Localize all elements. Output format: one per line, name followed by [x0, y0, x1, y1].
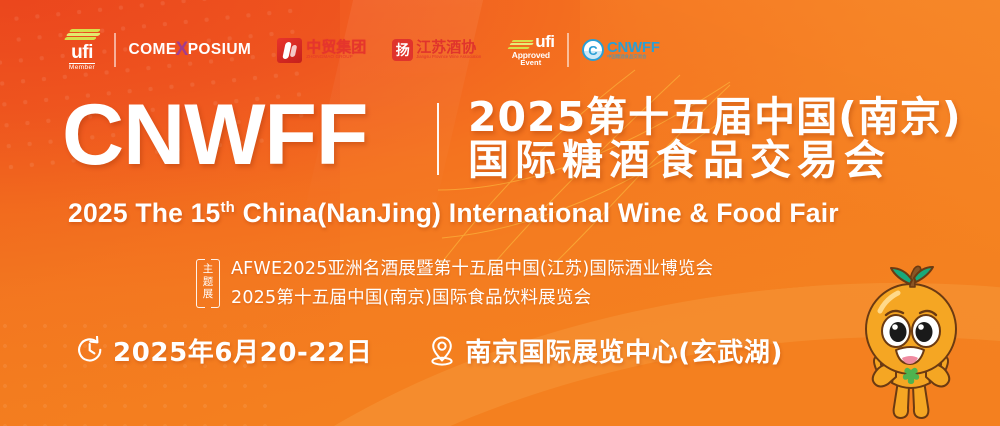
- logo-strip: ufi Member COMEXPOSIUM 中贸集团 ZHONGMAO GRO…: [50, 25, 673, 75]
- zhongmao-mark-icon: [277, 38, 302, 63]
- chinese-title: 2025第十五届中国(南京) 国际糖酒食品交易会: [468, 96, 962, 183]
- theme-exhibitions: 主 题 展 AFWE2025亚洲名酒展暨第十五届中国(江苏)国际酒业博览会 20…: [196, 255, 713, 309]
- theme-badge-char-3: 展: [203, 288, 214, 301]
- jiangsu-en-name: Jiangsu Province Wine Association: [416, 55, 481, 59]
- ufi-event-label: Event: [520, 59, 541, 67]
- chinese-title-line-2: 国际糖酒食品交易会: [468, 139, 962, 182]
- title-divider: [437, 103, 439, 175]
- cnwff-logo-subtitle: 中国糖酒食品交易会: [607, 55, 660, 59]
- event-venue: 南京国际展览中心(玄武湖): [428, 332, 783, 369]
- event-venue-text: 南京国际展览中心(玄武湖): [465, 332, 783, 369]
- clock-icon: [76, 336, 104, 366]
- event-date: 2025年6月20-22日: [76, 332, 372, 369]
- logo-zhongmao-group: 中贸集团 ZHONGMAO GROUP: [264, 25, 379, 75]
- jiangsu-seal-icon: 扬: [392, 39, 413, 61]
- english-title-ordinal: th: [220, 199, 235, 216]
- logo-jiangsu-wine-association: 扬 江苏酒协 Jiangsu Province Wine Association: [379, 25, 494, 75]
- logo-cnwff: CNWFF 中国糖酒食品交易会: [569, 25, 673, 75]
- logo-ufi-approved-event: ufi Approved Event: [494, 25, 567, 75]
- ufi-wing-icon: [63, 29, 101, 42]
- zhongmao-cn-name: 中贸集团: [306, 40, 366, 55]
- brand-acronym: CNWFF: [62, 92, 367, 178]
- logo-comexposium: COMEXPOSIUM: [116, 25, 265, 75]
- event-meta: 2025年6月20-22日 南京国际展览中心(玄武湖): [76, 332, 783, 369]
- theme-item: AFWE2025亚洲名酒展暨第十五届中国(江苏)国际酒业博览会: [231, 255, 713, 280]
- ufi-member-label: Member: [69, 63, 95, 72]
- ufi-approved-wordmark: ufi: [535, 33, 554, 51]
- chinese-title-line-1: 2025第十五届中国(南京): [468, 96, 962, 139]
- theme-badge-char-2: 题: [203, 276, 214, 289]
- english-title-post: China(NanJing) International Wine & Food…: [235, 198, 839, 228]
- theme-item: 2025第十五届中国(南京)国际食品饮料展览会: [231, 284, 713, 309]
- jiangsu-cn-name: 江苏酒协: [416, 40, 481, 55]
- theme-badge-char-1: 主: [203, 263, 214, 276]
- comexposium-post: POSIUM: [188, 41, 252, 59]
- location-pin-icon: [428, 335, 456, 367]
- cnwff-globe-icon: [582, 39, 604, 61]
- orange-mascot: [836, 251, 986, 426]
- zhongmao-en-name: ZHONGMAO GROUP: [306, 55, 366, 60]
- ufi-wordmark: ufi: [71, 43, 93, 62]
- event-date-text: 2025年6月20-22日: [113, 332, 372, 369]
- english-title-pre: 2025 The 15: [68, 198, 220, 228]
- logo-ufi-member: ufi Member: [50, 25, 114, 75]
- event-banner: ufi Member COMEXPOSIUM 中贸集团 ZHONGMAO GRO…: [0, 0, 1000, 426]
- ufi-approved-wing-icon: [507, 40, 533, 51]
- theme-badge: 主 题 展: [196, 259, 220, 306]
- comexposium-pre: COME: [129, 41, 177, 59]
- english-title: 2025 The 15th China(NanJing) Internation…: [68, 198, 839, 229]
- theme-list: AFWE2025亚洲名酒展暨第十五届中国(江苏)国际酒业博览会 2025第十五届…: [231, 255, 713, 309]
